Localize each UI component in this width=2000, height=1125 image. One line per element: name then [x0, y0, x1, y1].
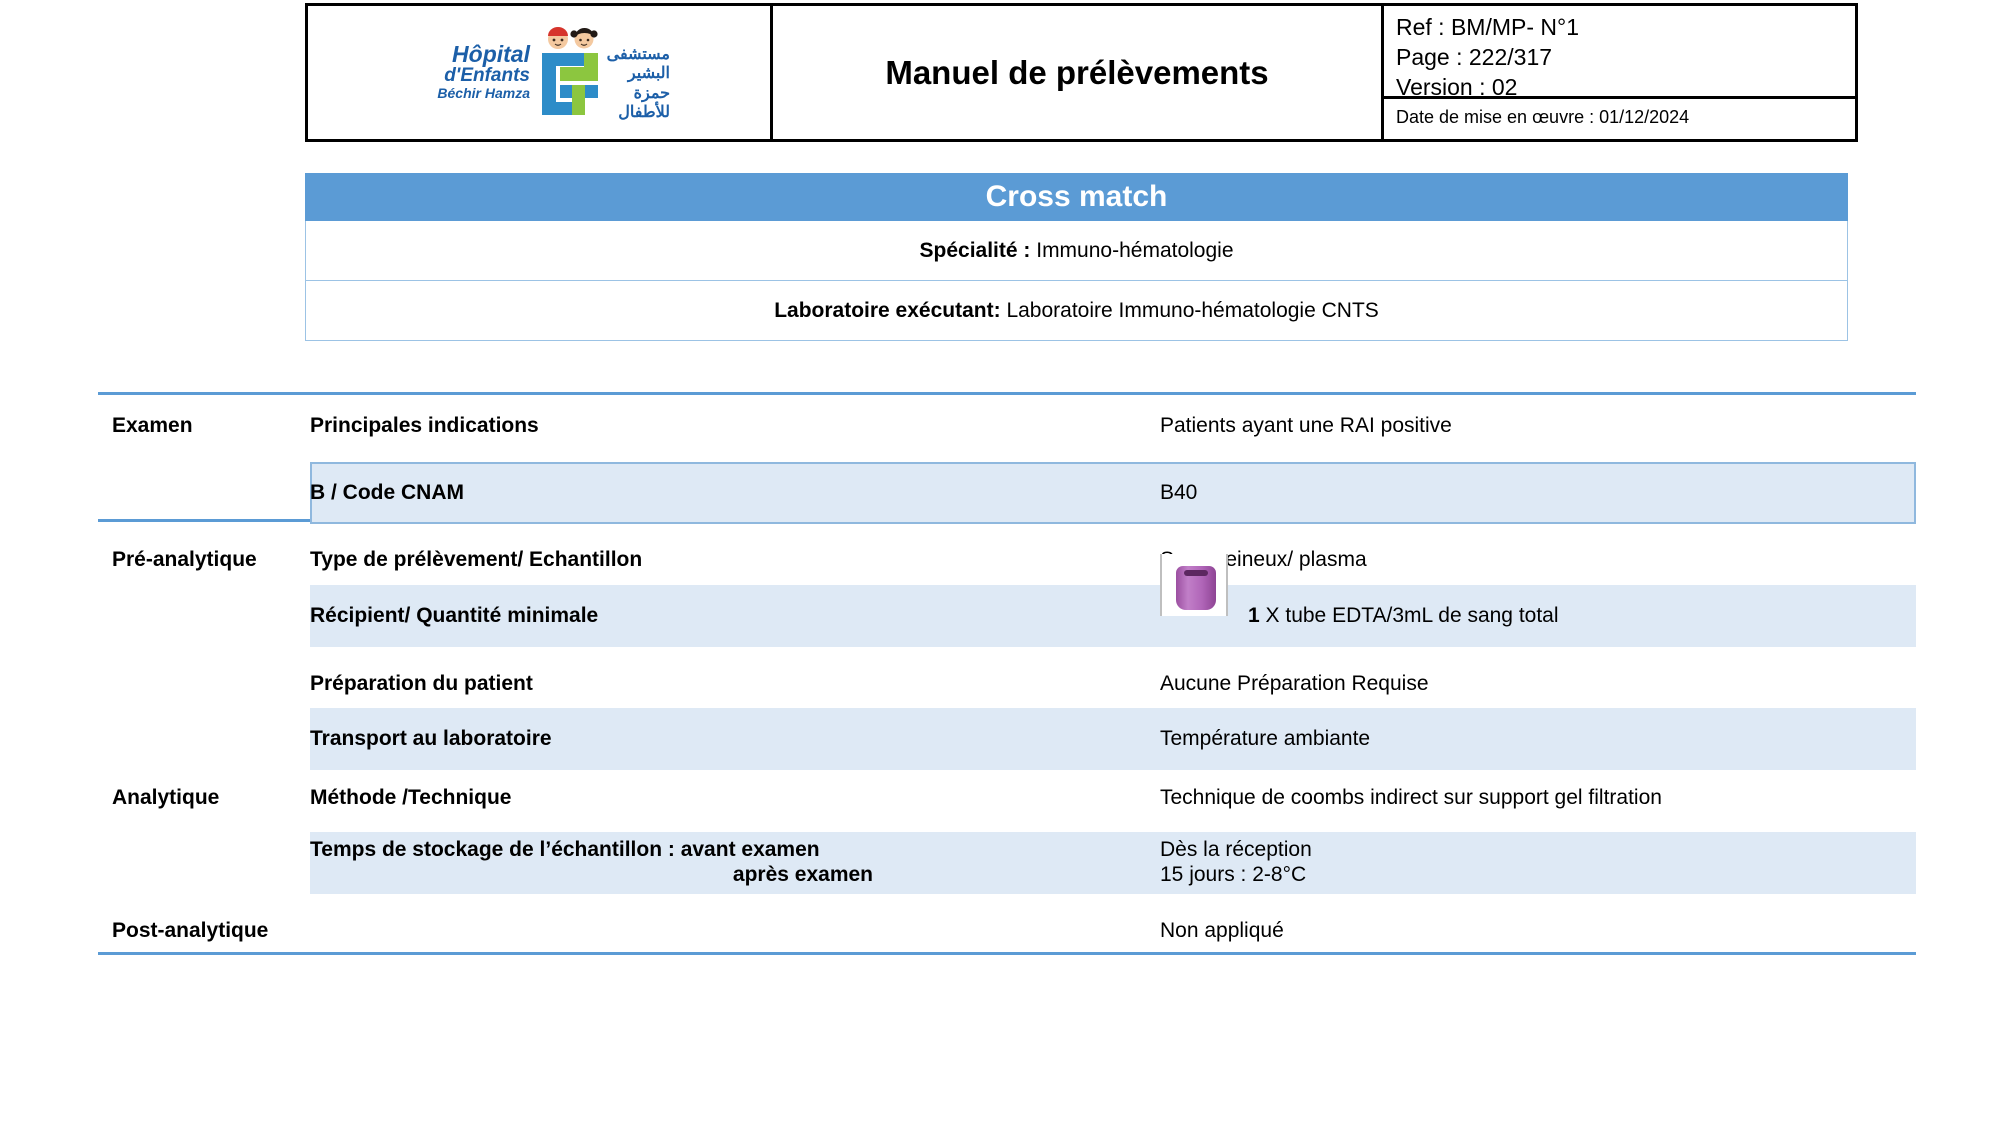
logo-line-hopital: Hôpital: [408, 43, 530, 67]
header-meta-identifiers: Ref : BM/MP- N°1 Page : 222/317 Version …: [1384, 6, 1855, 99]
table-row: Récipient/ Quantité minimale 1 X tube ED…: [98, 585, 1916, 647]
table-row: Transport au laboratoire Température amb…: [98, 708, 1916, 770]
stage-label-examen: Examen: [112, 414, 310, 438]
tube-description: X tube EDTA/3mL de sang total: [1260, 604, 1559, 627]
row-value-transport: Température ambiante: [1160, 727, 1900, 751]
doc-effective-date: Date de mise en œuvre : 01/12/2024: [1384, 99, 1855, 139]
row-value-recipient-quantite: 1 X tube EDTA/3mL de sang total: [1248, 604, 1948, 628]
stage-label-analytique: Analytique: [112, 786, 310, 810]
logo-arabic-line-3: للأطفال: [592, 103, 670, 123]
row-value-principales-indications: Patients ayant une RAI positive: [1160, 414, 1900, 438]
row-value-preparation-patient: Aucune Préparation Requise: [1160, 672, 1900, 696]
logo-line-denfants: d'Enfants: [408, 66, 530, 86]
row-value-temps-stockage-line1: Dès la réception: [1160, 838, 1312, 861]
tube-count: 1: [1248, 604, 1260, 627]
table-row: B / Code CNAM B40: [98, 462, 1916, 524]
row-label-methode-technique: Méthode /Technique: [310, 786, 950, 810]
table-row: Analytique Méthode /Technique Technique …: [98, 767, 1916, 829]
specialty-value: Immuno-hématologie: [1036, 239, 1233, 262]
tube-cap-icon: [1184, 570, 1208, 576]
row-label-type-prelevement: Type de prélèvement/ Echantillon: [310, 548, 950, 572]
logo-arabic-line-2: البشير حمزة: [592, 64, 670, 103]
row-label-temps-stockage-line2: après examen: [310, 863, 950, 888]
document-title: Manuel de prélèvements: [885, 54, 1268, 92]
logo-arabic-line-1: مستشفى: [592, 45, 670, 65]
performing-lab-row: Laboratoire exécutant: Laboratoire Immun…: [305, 281, 1848, 341]
row-value-temps-stockage: Dès la réception 15 jours : 2-8°C: [1160, 838, 1900, 888]
header-logo-cell: Hôpital d'Enfants Béchir Hamza: [308, 6, 773, 139]
table-row: Pré-analytique Type de prélèvement/ Echa…: [98, 529, 1916, 591]
row-label-preparation-patient: Préparation du patient: [310, 672, 950, 696]
row-value-code-cnam: B40: [1160, 481, 1900, 505]
row-label-temps-stockage-line1: Temps de stockage de l’échantillon : ava…: [310, 838, 820, 861]
row-label-principales-indications: Principales indications: [310, 414, 950, 438]
doc-version: Version : 02: [1396, 72, 1855, 102]
table-row: Post-analytique Non appliqué: [98, 900, 1916, 962]
header-title-cell: Manuel de prélèvements: [773, 6, 1384, 139]
header-meta-cell: Ref : BM/MP- N°1 Page : 222/317 Version …: [1384, 6, 1855, 139]
specialty-label: Spécialité :: [920, 239, 1031, 262]
hospital-logo: Hôpital d'Enfants Béchir Hamza: [408, 23, 670, 123]
row-label-transport: Transport au laboratoire: [310, 727, 950, 751]
table-row: Examen Principales indications Patients …: [98, 395, 1916, 457]
logo-arabic-text: مستشفى البشير حمزة للأطفال: [592, 45, 670, 123]
row-value-type-prelevement: Sang veineux/ plasma: [1160, 548, 1900, 572]
table-row: Temps de stockage de l’échantillon : ava…: [98, 832, 1916, 894]
performing-lab-value: Laboratoire Immuno-hématologie CNTS: [1006, 299, 1378, 322]
exam-name-banner: Cross match: [305, 173, 1848, 221]
row-label-recipient-quantite: Récipient/ Quantité minimale: [310, 604, 950, 628]
doc-ref: Ref : BM/MP- N°1: [1396, 12, 1855, 42]
row-label-temps-stockage: Temps de stockage de l’échantillon : ava…: [310, 838, 950, 888]
logo-line-bechir-hamza: Béchir Hamza: [408, 86, 530, 101]
row-value-methode-technique: Technique de coombs indirect sur support…: [1160, 786, 1900, 810]
row-label-code-cnam: B / Code CNAM: [310, 481, 950, 505]
document-header-table: Hôpital d'Enfants Béchir Hamza: [305, 3, 1858, 142]
stage-label-pre-analytique: Pré-analytique: [112, 548, 310, 572]
stage-label-post-analytique: Post-analytique: [112, 919, 310, 943]
row-value-temps-stockage-line2: 15 jours : 2-8°C: [1160, 863, 1900, 888]
table-row: Préparation du patient Aucune Préparatio…: [98, 653, 1916, 715]
logo-french-text: Hôpital d'Enfants Béchir Hamza: [408, 43, 530, 101]
row-value-post-analytique: Non appliqué: [1160, 919, 1900, 943]
exam-info-table: Cross match Spécialité : Immuno-hématolo…: [305, 173, 1848, 341]
edta-tube-image: [1160, 554, 1228, 616]
doc-page: Page : 222/317: [1396, 42, 1855, 72]
performing-lab-label: Laboratoire exécutant:: [774, 299, 1000, 322]
specialty-row: Spécialité : Immuno-hématologie: [305, 221, 1848, 281]
